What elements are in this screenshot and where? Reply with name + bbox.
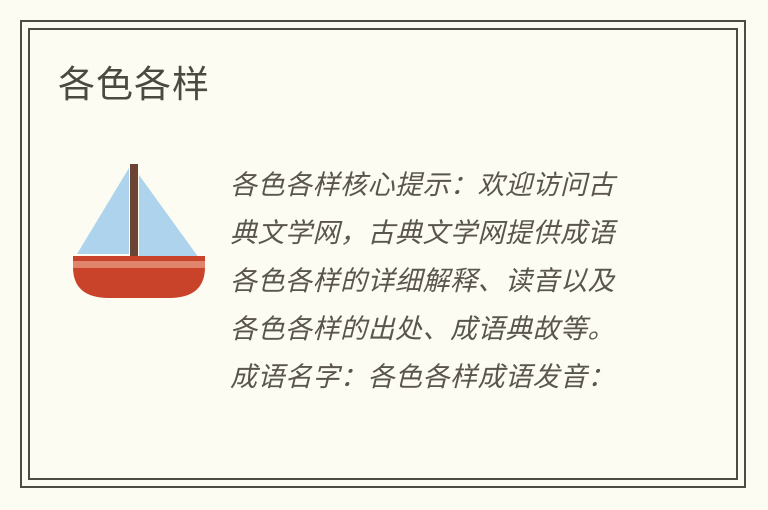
article-line: 各色各样核心提示：欢迎访问古 [230,162,658,210]
content-area: 各色各样核心提示：欢迎访问古 典文学网，古典文学网提供成语 各色各样的详细解释、… [58,150,678,420]
page-root: 各色各样 各色各样核心提示：欢迎访问古 典文学网，古典文学网提供成语 各色各样的… [0,0,768,510]
article-line: 典文学网，古典文学网提供成语 [230,210,658,258]
article-line: 各色各样的详细解释、读音以及 [230,258,658,306]
sailboat-icon [68,155,210,300]
article-line: 成语名字：各色各样成语发音： [230,354,658,402]
page-title: 各色各样 [58,62,210,108]
article-line: 各色各样的出处、成语典故等。 [230,306,658,354]
article-text: 各色各样核心提示：欢迎访问古 典文学网，古典文学网提供成语 各色各样的详细解释、… [230,162,658,402]
